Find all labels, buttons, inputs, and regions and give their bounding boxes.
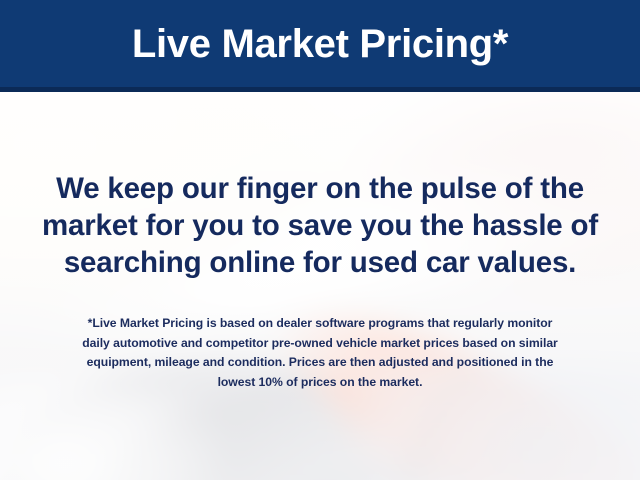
headline-line-3: searching online for used car values.	[18, 244, 622, 281]
disclaimer-line-3: equipment, mileage and condition. Prices…	[28, 353, 612, 373]
live-market-pricing-banner: Live Market Pricing* We keep our finger …	[0, 0, 640, 480]
content-area: We keep our finger on the pulse of the m…	[0, 92, 640, 480]
disclaimer-text: *Live Market Pricing is based on dealer …	[28, 314, 612, 392]
disclaimer-line-1: *Live Market Pricing is based on dealer …	[28, 314, 612, 334]
headline-line-2: market for you to save you the hassle of	[18, 207, 622, 244]
disclaimer-line-4: lowest 10% of prices on the market.	[28, 373, 612, 393]
header-band: Live Market Pricing*	[0, 0, 640, 92]
headline-line-1: We keep our finger on the pulse of the	[18, 170, 622, 207]
headline: We keep our finger on the pulse of the m…	[18, 170, 622, 281]
page-title: Live Market Pricing*	[132, 24, 508, 69]
disclaimer-line-2: daily automotive and competitor pre-owne…	[28, 334, 612, 354]
